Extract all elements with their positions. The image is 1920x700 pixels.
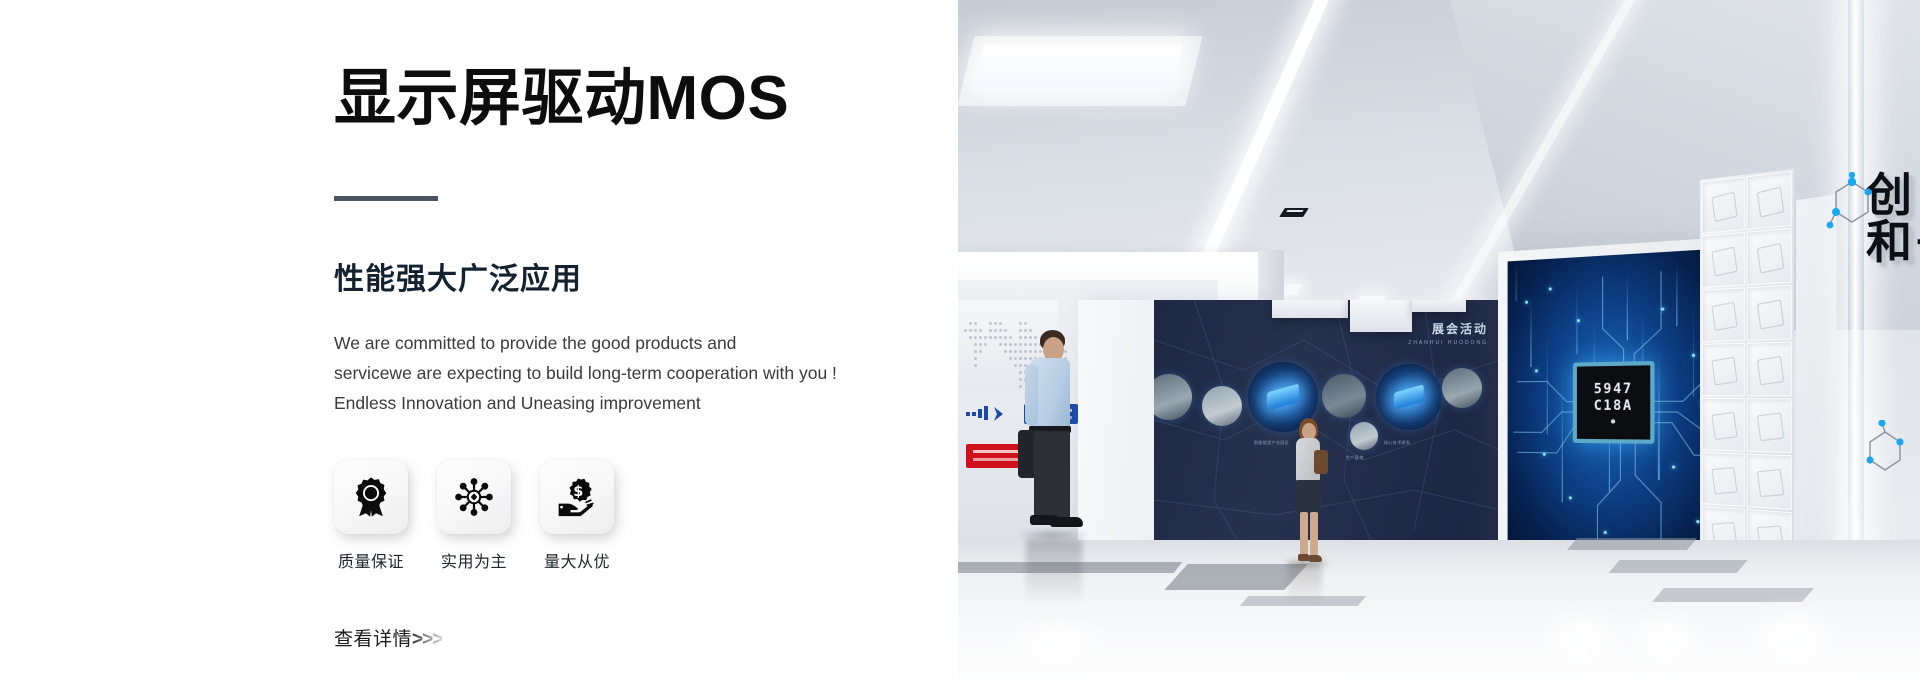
view-details-label: 查看详情	[334, 624, 412, 651]
feature-item-bulk[interactable]: $ 量大从优	[540, 460, 614, 572]
showroom-photo: 展会活动 ZHANHUI HUODONG 智能制造产业园区 核心技术研发 生产基…	[958, 0, 1920, 700]
porthole-caption: 核心技术研发	[1384, 440, 1410, 446]
molecule-decoration-icon	[1826, 172, 1878, 238]
floor-accent-stripe	[1609, 560, 1748, 573]
feature-list: 质量保证	[334, 460, 614, 572]
floor-reflection	[1288, 562, 1322, 606]
person-man-in-blue-shirt	[1020, 330, 1090, 540]
led-display-screen: 5947 C18A	[1508, 248, 1728, 576]
feature-item-practical[interactable]: 实用为主	[437, 460, 511, 572]
hanging-ceiling-block	[1272, 300, 1348, 318]
floor-light-reflection	[1738, 596, 1848, 676]
navy-wall-title: 展会活动 ZHANHUI HUODONG	[1408, 320, 1488, 346]
wall-porthole-chip	[1376, 364, 1442, 430]
floor-light-reflection	[1618, 604, 1714, 674]
feature-icon-tile[interactable]	[437, 460, 511, 534]
paragraph-line-2: servicewe are expecting to build long-te…	[334, 358, 894, 388]
feature-label: 量大从优	[540, 548, 614, 572]
network-hub-icon	[453, 476, 495, 518]
person-woman-walking	[1284, 418, 1330, 568]
feature-label: 实用为主	[437, 548, 511, 572]
page-title: 显示屏驱动MOS	[334, 62, 789, 135]
chevron-right-icon: >>>	[412, 629, 442, 651]
feature-icon-tile[interactable]	[334, 460, 408, 534]
paragraph-line-1: We are committed to provide the good pro…	[334, 328, 894, 358]
floor-light-reflection	[998, 612, 1118, 672]
brand-sign-column-2: 电 子	[1916, 172, 1920, 266]
vertical-light-strip	[1848, 0, 1864, 630]
view-details-link[interactable]: 查看详情>>>	[334, 624, 442, 651]
floor-accent-stripe	[1567, 538, 1697, 550]
feature-item-quality[interactable]: 质量保证	[334, 460, 408, 572]
molecule-decoration-icon	[1860, 420, 1910, 480]
wall-porthole-photo	[1350, 422, 1378, 450]
wall-porthole-photo	[1202, 386, 1242, 426]
title-divider	[334, 196, 438, 201]
wall-porthole-photo	[1442, 368, 1482, 408]
hanging-ceiling-block	[1412, 300, 1466, 312]
hero-banner: 显示屏驱动MOS 性能强大广泛应用 We are committed to pr…	[0, 0, 1920, 700]
subheading: 性能强大广泛应用	[334, 262, 582, 298]
company-logo-mark	[966, 406, 1010, 422]
description-paragraph: We are committed to provide the good pro…	[334, 328, 894, 418]
award-ribbon-icon	[350, 476, 392, 518]
wall-porthole-photo	[1322, 374, 1366, 418]
feature-label: 质量保证	[334, 548, 408, 572]
skylight-panel-light	[973, 45, 1183, 87]
porthole-caption: 生产基地	[1346, 455, 1364, 461]
floor-reflection	[1026, 540, 1082, 604]
hand-money-icon: $	[556, 476, 598, 518]
floor-light-reflection	[1532, 600, 1632, 674]
feature-icon-tile[interactable]: $	[540, 460, 614, 534]
paragraph-line-3: Endless Innovation and Uneasing improvem…	[334, 388, 894, 418]
hanging-ceiling-block	[1350, 300, 1412, 332]
banner-text-panel: 显示屏驱动MOS 性能强大广泛应用 We are committed to pr…	[0, 0, 958, 700]
chip-graphic: 5947 C18A	[1573, 361, 1655, 444]
svg-text:$: $	[573, 484, 583, 500]
